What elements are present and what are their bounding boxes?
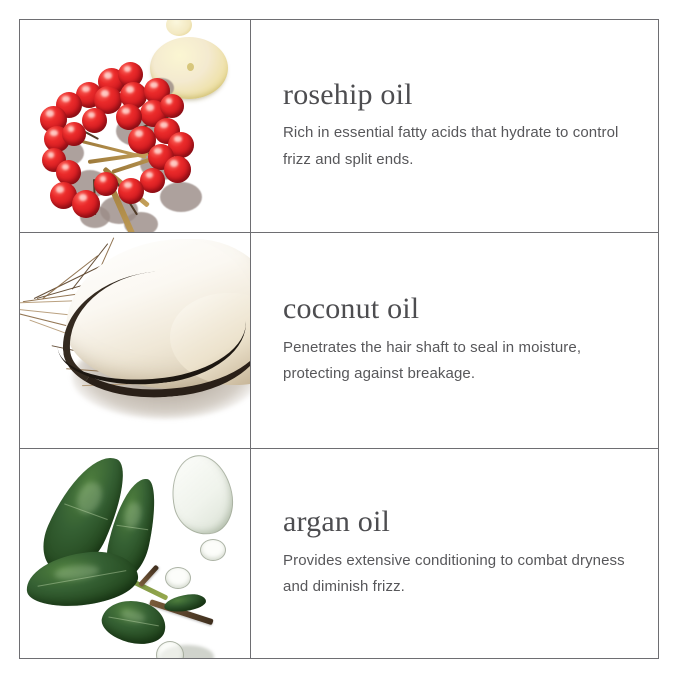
argan-twig <box>138 565 159 588</box>
rosehip-image-cell <box>20 20 251 233</box>
rosehip-photo <box>20 20 250 232</box>
oil-droplet-medium-icon <box>200 539 226 561</box>
rosehip-description: Rich in essential fatty acids that hydra… <box>283 120 628 173</box>
rosehip-text-cell: rosehip oil Rich in essential fatty acid… <box>251 20 658 233</box>
argan-photo <box>20 449 250 658</box>
berry-shadow <box>160 182 202 212</box>
rosehip-berry <box>94 172 118 196</box>
rosehip-berry <box>72 190 100 218</box>
rosehip-berry <box>82 108 107 133</box>
rosehip-berry <box>56 160 81 185</box>
argan-text-cell: argan oil Provides extensive conditionin… <box>251 449 658 658</box>
coconut-image-cell <box>20 233 251 449</box>
argan-title: argan oil <box>283 506 658 538</box>
coconut-description: Penetrates the hair shaft to seal in moi… <box>283 335 628 388</box>
rosehip-berry <box>118 178 144 204</box>
ingredient-infographic: rosehip oil Rich in essential fatty acid… <box>0 0 679 679</box>
oil-droplet-small-icon <box>166 20 192 36</box>
oil-droplet-large-icon <box>164 450 239 541</box>
argan-description: Provides extensive conditioning to comba… <box>283 548 628 601</box>
oil-droplet-small-icon <box>165 567 191 589</box>
argan-image-cell <box>20 449 251 658</box>
argan-leaf-small <box>163 592 207 614</box>
ingredient-grid: rosehip oil Rich in essential fatty acid… <box>19 19 659 659</box>
rosehip-berry <box>62 122 86 146</box>
coconut-title: coconut oil <box>283 293 658 325</box>
rosehip-berry <box>164 156 191 183</box>
coconut-text-cell: coconut oil Penetrates the hair shaft to… <box>251 233 658 449</box>
rosehip-title: rosehip oil <box>283 79 658 111</box>
rosehip-berry <box>160 94 184 118</box>
coconut-photo <box>20 233 250 448</box>
oil-droplet-tiny-icon <box>156 641 184 658</box>
